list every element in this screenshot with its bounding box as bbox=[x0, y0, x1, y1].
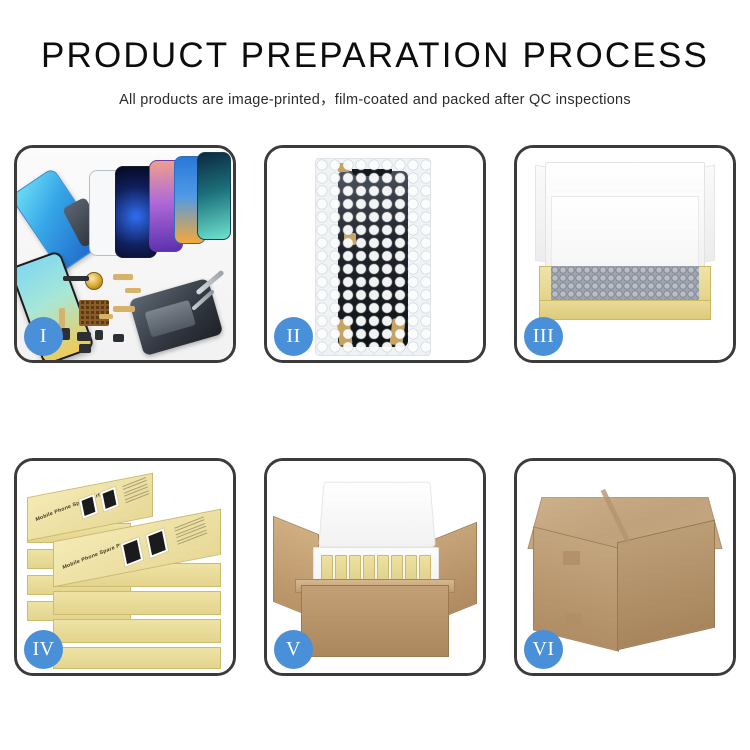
foam-box-body bbox=[313, 547, 439, 603]
packed-phone-screen bbox=[338, 171, 408, 347]
page-title: PRODUCT PREPARATION PROCESS bbox=[0, 38, 750, 75]
carton-right-face bbox=[617, 520, 715, 651]
box-lid-flap-left bbox=[535, 165, 551, 264]
bubble-cushioning bbox=[551, 266, 699, 300]
step-badge-4: IV bbox=[24, 630, 63, 669]
tape-tab bbox=[338, 163, 349, 172]
header: PRODUCT PREPARATION PROCESS All products… bbox=[0, 0, 750, 109]
product-window bbox=[99, 486, 120, 513]
retail-box bbox=[53, 647, 221, 669]
product-window bbox=[145, 527, 170, 559]
retail-box bbox=[27, 523, 131, 543]
tape-tab bbox=[389, 318, 405, 345]
retail-box bbox=[53, 619, 221, 643]
retail-box-label: Mobile Phone Spare Parts bbox=[62, 539, 131, 571]
step-badge-2: II bbox=[274, 317, 313, 356]
phone-screen-teal bbox=[197, 152, 231, 240]
retail-box-top-rear: Mobile Phone Spare Parts bbox=[27, 473, 153, 541]
phone-adhesive-film bbox=[17, 167, 104, 272]
carton-flap-right bbox=[431, 522, 477, 623]
tape-tab bbox=[336, 318, 352, 345]
process-step-6[interactable]: VI bbox=[514, 458, 736, 676]
phone-back-housing bbox=[129, 278, 224, 356]
phone-screen-purple bbox=[149, 160, 183, 252]
process-step-grid: I II bbox=[14, 145, 736, 676]
process-step-5[interactable]: V bbox=[264, 458, 486, 676]
chip-component bbox=[77, 332, 91, 341]
process-step-3[interactable]: III bbox=[514, 145, 736, 363]
process-step-4[interactable]: Mobile Phone Spare Parts Mobile Phone Sp… bbox=[14, 458, 236, 676]
retail-box-top-front: Mobile Phone Spare Parts bbox=[53, 509, 221, 588]
carton-flap-left bbox=[273, 516, 319, 621]
screw-tray-component bbox=[79, 300, 109, 326]
carton-body bbox=[301, 585, 449, 657]
step-badge-1: I bbox=[24, 317, 63, 356]
foam-liner bbox=[551, 196, 699, 268]
flex-cable bbox=[125, 288, 141, 293]
carton-tape-patch bbox=[563, 551, 580, 565]
retail-box bbox=[53, 563, 221, 587]
spec-lines bbox=[174, 516, 207, 547]
step-badge-5: V bbox=[274, 630, 313, 669]
foam-box-lid bbox=[318, 482, 436, 548]
box-lid bbox=[545, 162, 705, 274]
phone-screen-orange bbox=[174, 156, 206, 244]
product-window bbox=[78, 493, 99, 520]
flex-cable bbox=[99, 314, 113, 319]
tape-tab bbox=[344, 233, 356, 245]
flex-cable bbox=[113, 306, 135, 312]
carton-top-face bbox=[527, 497, 722, 549]
carton-tape-patch bbox=[565, 613, 582, 627]
phone-screen-white bbox=[89, 170, 127, 256]
speaker-component bbox=[85, 272, 103, 290]
step-badge-6: VI bbox=[524, 630, 563, 669]
retail-box bbox=[53, 591, 221, 615]
tweezers-tool bbox=[191, 289, 214, 311]
process-step-2[interactable]: II bbox=[264, 145, 486, 363]
step-badge-3: III bbox=[524, 317, 563, 356]
page-subtitle: All products are image-printed，film-coat… bbox=[0, 88, 750, 109]
product-window bbox=[120, 536, 145, 568]
carton-rim bbox=[295, 579, 455, 593]
phone-screen-dark bbox=[115, 166, 157, 258]
product-preparation-infographic: PRODUCT PREPARATION PROCESS All products… bbox=[0, 0, 750, 750]
box-lid-flap-right bbox=[699, 165, 715, 264]
retail-box bbox=[27, 549, 131, 569]
kraft-tray-front bbox=[539, 300, 711, 320]
kraft-tray bbox=[539, 266, 711, 318]
chip-component bbox=[63, 276, 89, 281]
chip-component bbox=[113, 334, 124, 342]
packed-retail-boxes bbox=[321, 555, 431, 597]
bubble-wrap-bag bbox=[315, 158, 431, 356]
chip-component bbox=[95, 330, 103, 340]
retail-box bbox=[27, 601, 131, 621]
flex-cable bbox=[113, 274, 133, 280]
retail-box bbox=[27, 575, 131, 595]
chip-component bbox=[79, 344, 91, 353]
spec-lines bbox=[122, 477, 149, 505]
screwdriver-tool bbox=[195, 270, 224, 296]
retail-box-label: Mobile Phone Spare Parts bbox=[35, 491, 104, 523]
process-step-1[interactable]: I bbox=[14, 145, 236, 363]
bubble-texture bbox=[316, 159, 430, 355]
carton-seam bbox=[601, 489, 631, 543]
